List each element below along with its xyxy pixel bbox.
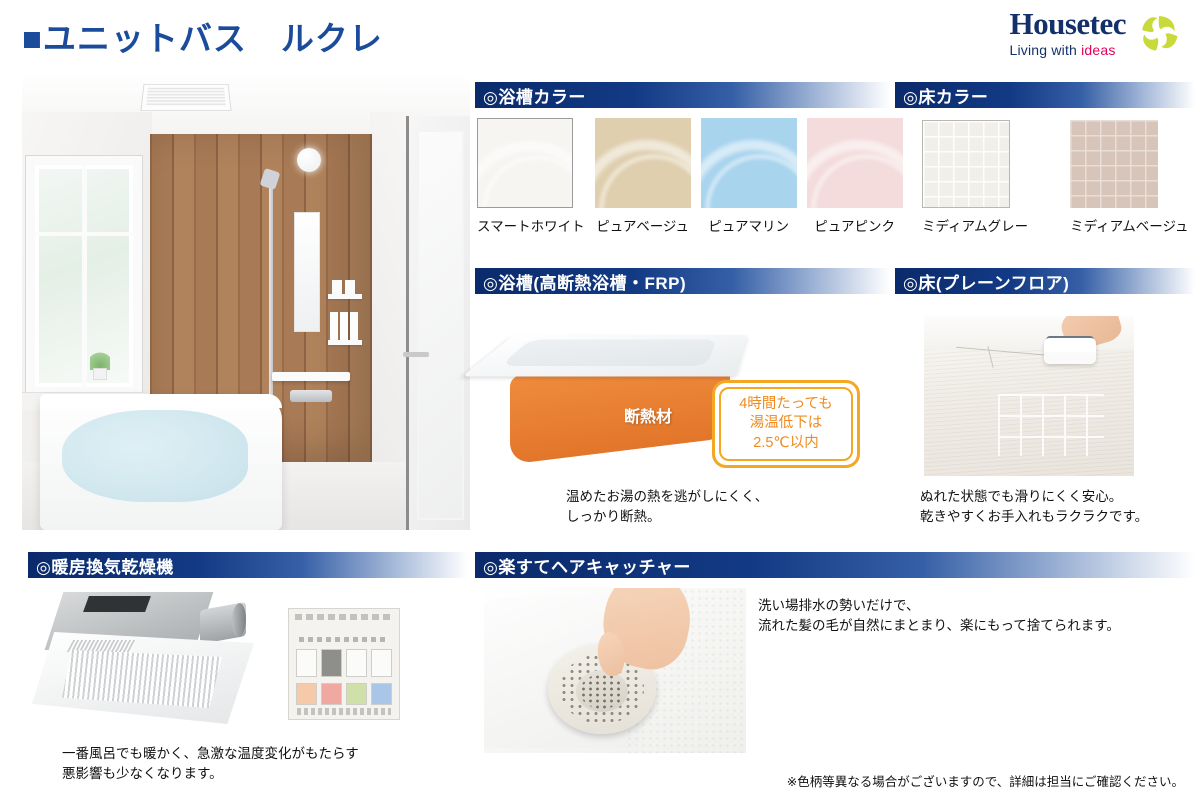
ceiling-vent — [140, 84, 231, 111]
tub-color-option[interactable]: ピュアマリン — [701, 118, 797, 235]
floor-color-option[interactable]: ミディアムベージュ — [1070, 120, 1188, 235]
remote-button[interactable] — [371, 649, 392, 677]
floor-cleaning-photo — [924, 316, 1134, 476]
insulation-callout-badge: 4時間たっても 湯温低下は 2.5℃以内 — [712, 380, 860, 468]
floor-color-swatch-row: ミディアムグレー ミディアムベージュ — [922, 120, 1189, 235]
section-header-tub-color: ◎浴槽カラー — [475, 82, 890, 108]
heater-remote-control[interactable] — [288, 608, 400, 720]
hair-catcher-photo — [484, 588, 746, 753]
remote-button-row-1[interactable] — [296, 649, 392, 677]
page-title: ■ユニットバス ルクレ — [22, 12, 383, 60]
hair-catcher-caption: 洗い場排水の勢いだけで、 流れた髪の毛が自然にまとまり、楽にもって捨てられます。 — [758, 596, 1120, 635]
floor-caption: ぬれた状態でも滑りにくく安心。 乾きやすくお手入れもラクラクです。 — [920, 487, 1148, 526]
remote-button-blue[interactable] — [371, 683, 392, 705]
remote-button[interactable] — [296, 649, 317, 677]
swatch-label: ピュアベージュ — [595, 215, 691, 235]
heater-caption: 一番風呂でも暖かく、急激な温度変化がもたらす 悪影響も少なくなります。 — [62, 744, 359, 783]
bathtub-cutaway-illustration: 断熱材 — [490, 315, 750, 465]
counter-shelf — [272, 372, 350, 381]
remote-button-row-2[interactable] — [296, 683, 392, 705]
tub-color-swatch-row: スマートホワイト ピュアベージュ ピュアマリン ピュアピンク — [477, 118, 903, 235]
section-header-hair-catcher: ◎楽すてヘアキャッチャー — [475, 552, 1195, 578]
faucet-icon — [290, 390, 332, 402]
brand-tagline: Living with ideas — [1009, 42, 1126, 58]
swatch-smart-white[interactable] — [477, 118, 573, 208]
swatch-label: スマートホワイト — [477, 215, 585, 235]
heater-unit-photo — [32, 588, 272, 728]
tub-color-option[interactable]: ピュアピンク — [807, 118, 903, 235]
floor-color-option[interactable]: ミディアムグレー — [922, 120, 1028, 235]
swatch-pure-marine[interactable] — [701, 118, 797, 208]
brand-tagline-text: Living with — [1009, 42, 1081, 58]
section-header-heater: ◎暖房換気乾燥機 — [28, 552, 468, 578]
section-header-floor-color: ◎床カラー — [895, 82, 1195, 108]
section-header-bathtub: ◎浴槽(高断熱浴槽・FRP) — [475, 268, 890, 294]
plant-icon — [90, 350, 110, 380]
mirror — [294, 212, 320, 332]
swatch-label: ピュアマリン — [701, 215, 797, 235]
remote-button-orange[interactable] — [296, 683, 317, 705]
door-handle — [403, 352, 429, 357]
remote-button[interactable] — [346, 649, 367, 677]
swatch-pure-beige[interactable] — [595, 118, 691, 208]
insulation-label: 断熱材 — [624, 403, 672, 427]
bathtub-caption: 温めたお湯の熱を逃がしにくく、 しっかり断熱。 — [566, 487, 768, 526]
bathroom-door — [406, 116, 470, 530]
brand-tagline-accent: ideas — [1081, 42, 1115, 58]
pinwheel-icon — [1136, 10, 1182, 56]
swatch-medium-gray[interactable] — [922, 120, 1010, 208]
tub-color-option[interactable]: スマートホワイト — [477, 118, 585, 235]
remote-button-display[interactable] — [321, 649, 342, 677]
insulation-callout-text: 4時間たっても 湯温低下は 2.5℃以内 — [739, 395, 833, 454]
bathroom-interior-photo — [22, 72, 470, 530]
swatch-label: ピュアピンク — [807, 215, 903, 235]
brand-name: Housetec — [1009, 8, 1126, 39]
swatch-pure-pink[interactable] — [807, 118, 903, 208]
remote-button-green[interactable] — [346, 683, 367, 705]
bathtub — [40, 394, 282, 530]
window — [26, 156, 142, 396]
ceiling-light — [297, 148, 321, 172]
remote-button-red[interactable] — [321, 683, 342, 705]
swatch-medium-beige[interactable] — [1070, 120, 1158, 208]
sponge-icon — [1044, 338, 1096, 364]
brand-logo: Housetec Living with ideas — [1009, 8, 1182, 58]
section-header-floor: ◎床(プレーンフロア) — [895, 268, 1195, 294]
tub-color-option[interactable]: ピュアベージュ — [595, 118, 691, 235]
swatch-label: ミディアムグレー — [922, 215, 1028, 235]
footnote: ※色柄等異なる場合がございますので、詳細は担当にご確認ください。 — [787, 771, 1184, 790]
swatch-label: ミディアムベージュ — [1070, 215, 1188, 235]
